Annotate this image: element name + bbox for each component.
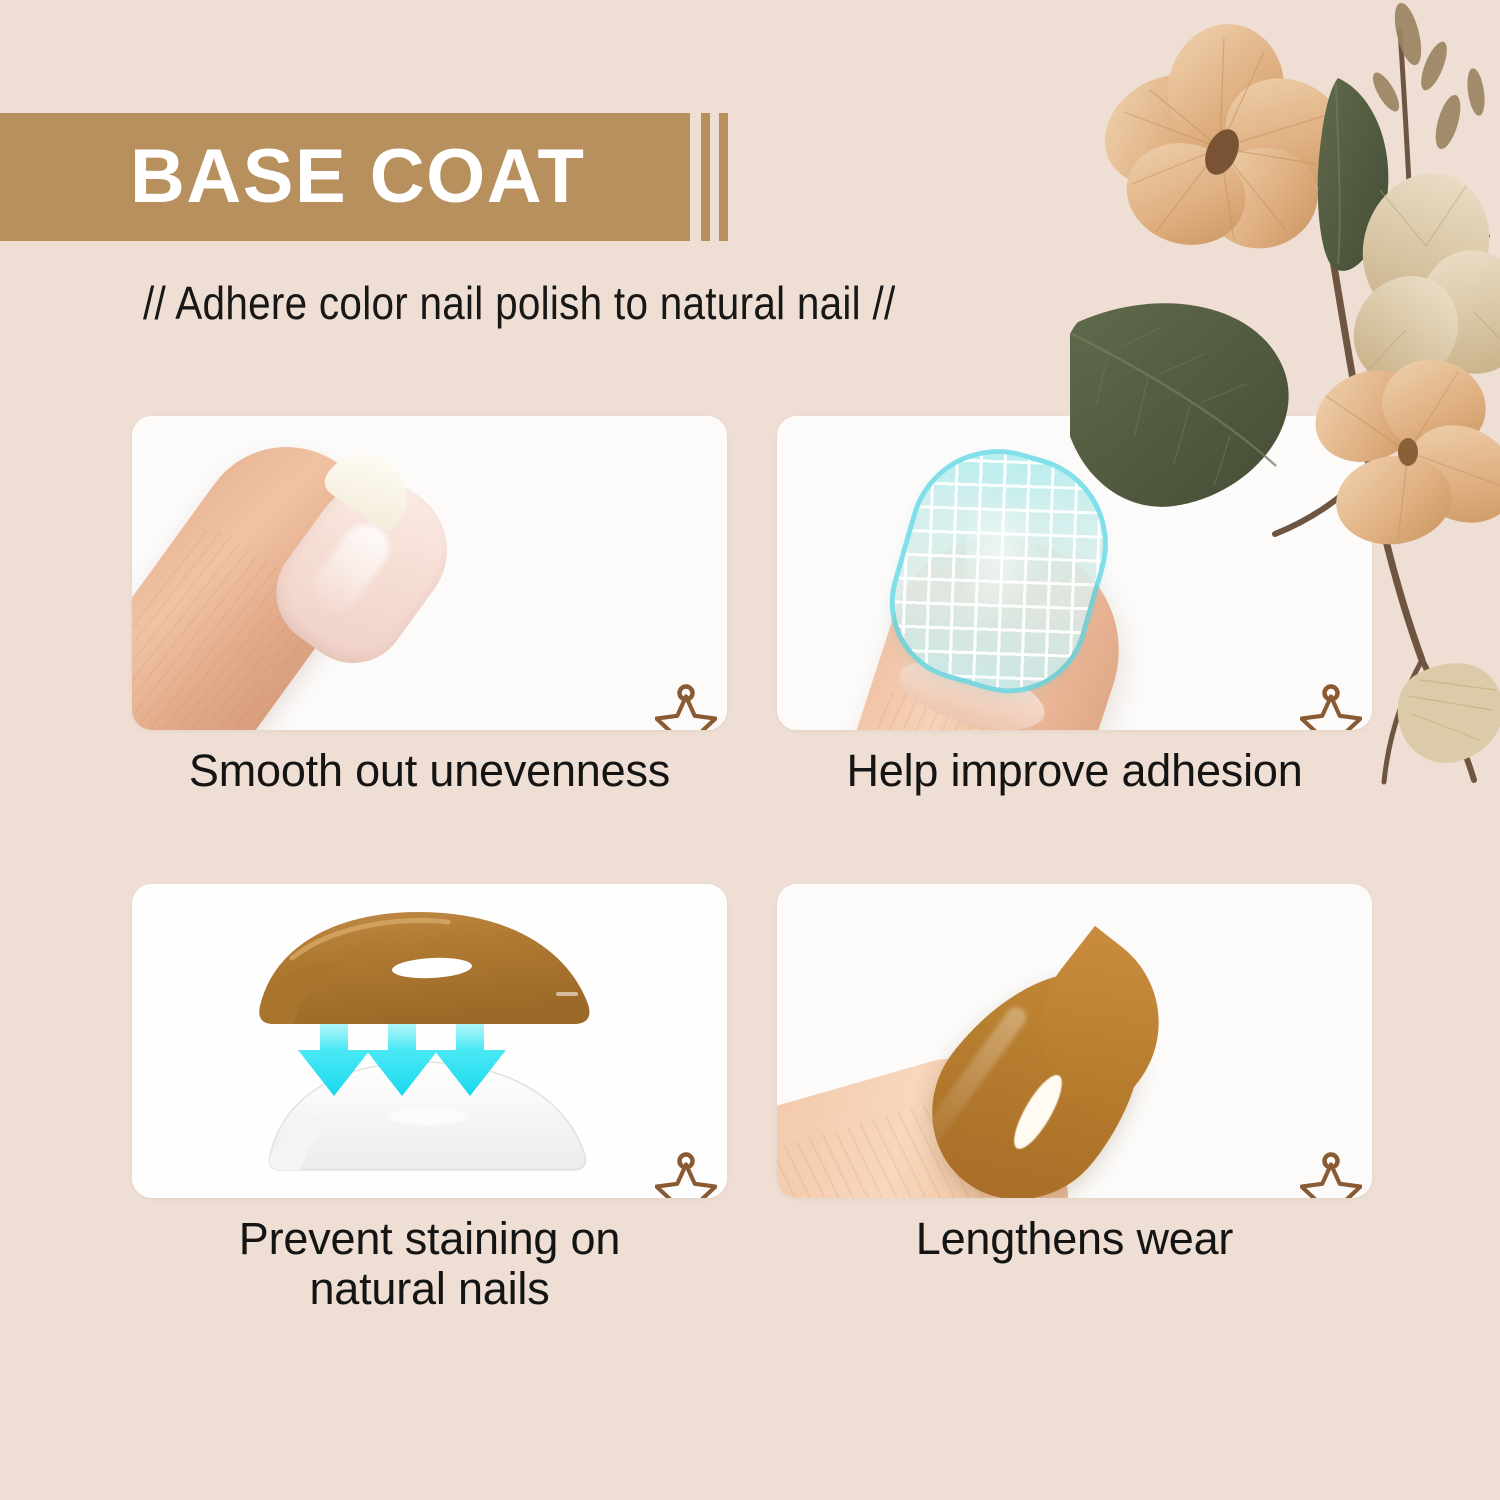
page-subtitle: // Adhere color nail polish to natural n… (143, 276, 895, 330)
nail-with-cyan-grid-photo (777, 416, 1372, 730)
page-title: BASE COAT (130, 139, 585, 215)
banner-accent-bar-1 (701, 113, 710, 241)
leaf-shape (1318, 78, 1389, 271)
nail-highlight (961, 506, 1046, 621)
card-caption: Lengthens wear (777, 1214, 1372, 1264)
card-caption: Help improve adhesion (777, 746, 1372, 796)
card-frame (777, 884, 1372, 1198)
card-frame (132, 884, 727, 1198)
star-charm-icon (1300, 684, 1362, 730)
feature-card-help-improve-adhesion: Help improve adhesion (777, 416, 1372, 730)
natural-nail-layer (269, 1062, 585, 1170)
card-caption: Prevent staining onnatural nails (132, 1214, 727, 1315)
banner-accent-bar-2 (719, 113, 728, 241)
feature-card-lengthens-wear: Lengthens wear (777, 884, 1372, 1198)
caption-line-2: natural nails (309, 1263, 549, 1314)
card-frame (132, 416, 727, 730)
card-caption: Smooth out unevenness (132, 746, 727, 796)
caption-line-1: Prevent staining on (239, 1213, 620, 1264)
star-charm-icon (655, 1152, 717, 1198)
star-charm-icon (1300, 1152, 1362, 1198)
feature-card-prevent-staining: Prevent staining onnatural nails (132, 884, 727, 1198)
color-polish-layer (259, 912, 589, 1024)
painted-almond-nail-photo (777, 884, 1372, 1198)
header-banner: BASE COAT (0, 113, 740, 241)
card-frame (777, 416, 1372, 730)
infographic-canvas: BASE COAT // Adhere color nail polish to… (0, 0, 1500, 1500)
feature-card-smooth-out-unevenness: Smooth out unevenness (132, 416, 727, 730)
polish-layer-over-nail-illustration (132, 884, 727, 1198)
star-charm-icon (655, 684, 717, 730)
bare-natural-nail-photo (132, 416, 727, 730)
